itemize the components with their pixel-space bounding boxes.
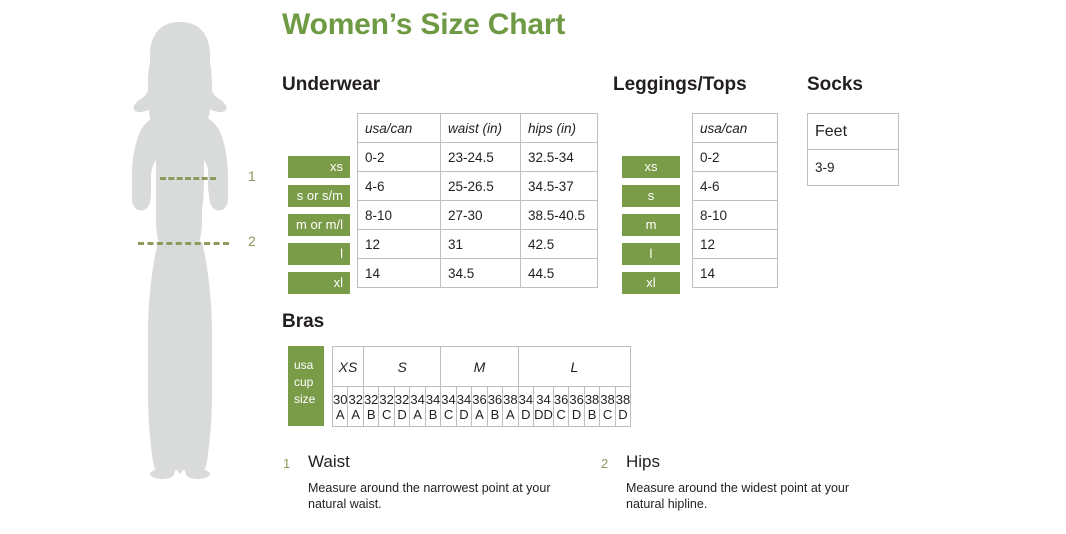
footnote-body: Measure around the narrowest point at yo…	[308, 480, 563, 512]
table-row: 4-6 25-26.5 34.5-37	[358, 172, 598, 201]
bras-band: 32	[364, 392, 378, 407]
bras-group-header-row: XS S M L	[333, 347, 631, 387]
bras-cup: C	[600, 407, 614, 422]
section-heading-underwear: Underwear	[282, 74, 380, 96]
bras-cell: 32C	[379, 387, 394, 427]
bras-band: 34	[534, 392, 553, 407]
bras-group-m: M	[441, 347, 518, 387]
table-row: 3-9	[808, 150, 899, 186]
bras-cup: D	[395, 407, 409, 422]
bras-band: 34	[410, 392, 424, 407]
cell-usa-can: 12	[358, 230, 441, 259]
cell-hips: 34.5-37	[521, 172, 598, 201]
waist-measure-line	[160, 177, 216, 180]
cell-hips: 42.5	[521, 230, 598, 259]
column-header-usa-can: usa/can	[693, 114, 778, 143]
size-label-xs: xs	[622, 156, 680, 178]
size-label-s: s	[622, 185, 680, 207]
bras-cell: 34B	[425, 387, 440, 427]
table-row: 12 31 42.5	[358, 230, 598, 259]
column-header-usa-can: usa/can	[358, 114, 441, 143]
page-title: Women’s Size Chart	[282, 8, 565, 42]
section-heading-leggings-tops: Leggings/Tops	[613, 74, 747, 96]
size-label-l: l	[622, 243, 680, 265]
bras-cup: A	[410, 407, 424, 422]
bras-cell: 36B	[487, 387, 502, 427]
bras-cup: A	[333, 407, 347, 422]
bras-band: 34	[519, 392, 533, 407]
hips-measure-line	[138, 242, 229, 245]
section-heading-socks: Socks	[807, 74, 863, 96]
bras-band: 32	[395, 392, 409, 407]
bras-cell: 34D	[456, 387, 471, 427]
table-row: 14	[693, 259, 778, 288]
table-row: 0-2 23-24.5 32.5-34	[358, 143, 598, 172]
cell-feet: 3-9	[808, 150, 899, 186]
bras-band: 34	[426, 392, 440, 407]
cell-usa-can: 4-6	[693, 172, 778, 201]
underwear-size-table: usa/can waist (in) hips (in) 0-2 23-24.5…	[357, 113, 598, 288]
bras-cup: A	[503, 407, 517, 422]
bras-band: 34	[441, 392, 455, 407]
bras-cup: DD	[534, 407, 553, 422]
cell-usa-can: 0-2	[693, 143, 778, 172]
bras-cell: 38B	[584, 387, 599, 427]
bras-cell: 32B	[363, 387, 378, 427]
footnote-body: Measure around the widest point at your …	[626, 480, 881, 512]
cell-usa-can: 14	[693, 259, 778, 288]
socks-size-table: Feet 3-9	[807, 113, 899, 186]
bras-group-xs: XS	[333, 347, 364, 387]
table-header-row: usa/can waist (in) hips (in)	[358, 114, 598, 143]
size-label-m: m or m/l	[288, 214, 350, 236]
size-label-l: l	[288, 243, 350, 265]
cell-waist: 23-24.5	[441, 143, 521, 172]
bras-cell: 38C	[600, 387, 615, 427]
bras-cup: B	[488, 407, 502, 422]
bras-cup: B	[364, 407, 378, 422]
bras-cell: 38A	[503, 387, 518, 427]
footnote-number: 1	[283, 456, 290, 471]
bras-band: 38	[600, 392, 614, 407]
bras-cup: A	[348, 407, 362, 422]
bras-row-label: usa cup size	[288, 346, 324, 426]
leggings-size-table: usa/can 0-2 4-6 8-10 12 14	[692, 113, 778, 288]
bras-cup: A	[472, 407, 486, 422]
footnote-title: Waist	[308, 452, 350, 472]
bras-size-table: XS S M L 30A 32A 32B 32C 32D 34A 34B 34C…	[332, 346, 631, 427]
table-header-row: Feet	[808, 114, 899, 150]
leggings-size-label-column: xs s m l xl	[622, 156, 680, 301]
footnote-number: 2	[601, 456, 608, 471]
bras-row-label-line-2: cup	[294, 375, 313, 389]
cell-waist: 25-26.5	[441, 172, 521, 201]
bras-cell: 30A	[333, 387, 348, 427]
table-row: 8-10	[693, 201, 778, 230]
column-header-hips: hips (in)	[521, 114, 598, 143]
bras-cup: D	[519, 407, 533, 422]
bras-cup: D	[616, 407, 630, 422]
bras-cup: C	[441, 407, 455, 422]
table-row: 14 34.5 44.5	[358, 259, 598, 288]
bras-group-l: L	[518, 347, 631, 387]
bras-band: 38	[503, 392, 517, 407]
bras-band: 32	[348, 392, 362, 407]
table-row: 4-6	[693, 172, 778, 201]
size-label-m: m	[622, 214, 680, 236]
bras-cup: D	[569, 407, 583, 422]
bras-band: 36	[488, 392, 502, 407]
column-header-feet: Feet	[808, 114, 899, 150]
bras-cell: 34DD	[534, 387, 554, 427]
bras-cell: 32D	[394, 387, 409, 427]
table-row: 8-10 27-30 38.5-40.5	[358, 201, 598, 230]
cell-usa-can: 8-10	[693, 201, 778, 230]
size-label-xl: xl	[622, 272, 680, 294]
table-header-row: usa/can	[693, 114, 778, 143]
cell-usa-can: 4-6	[358, 172, 441, 201]
bras-cell: 36C	[553, 387, 568, 427]
bras-group-s: S	[363, 347, 440, 387]
bras-band: 36	[472, 392, 486, 407]
body-silhouette-figure: 1 2	[100, 22, 260, 482]
bras-row-label-line-1: usa	[294, 358, 313, 372]
cell-usa-can: 0-2	[358, 143, 441, 172]
table-row: 0-2	[693, 143, 778, 172]
bras-row-label-line-3: size	[294, 392, 315, 406]
bras-cup: B	[585, 407, 599, 422]
waist-marker-number: 1	[248, 168, 256, 184]
cell-usa-can: 12	[693, 230, 778, 259]
bras-cup: D	[457, 407, 471, 422]
cell-hips: 32.5-34	[521, 143, 598, 172]
bras-cell: 38D	[615, 387, 630, 427]
table-row: 12	[693, 230, 778, 259]
cell-hips: 44.5	[521, 259, 598, 288]
cell-hips: 38.5-40.5	[521, 201, 598, 230]
cell-usa-can: 14	[358, 259, 441, 288]
section-heading-bras: Bras	[282, 311, 324, 333]
bras-cup: B	[426, 407, 440, 422]
bras-band: 34	[457, 392, 471, 407]
bras-cell: 34D	[518, 387, 533, 427]
cell-waist: 27-30	[441, 201, 521, 230]
bras-band: 36	[554, 392, 568, 407]
bras-cell: 36A	[472, 387, 487, 427]
bras-cup: C	[554, 407, 568, 422]
size-label-xl: xl	[288, 272, 350, 294]
cell-waist: 31	[441, 230, 521, 259]
bras-cell: 34C	[441, 387, 456, 427]
footnote-title: Hips	[626, 452, 660, 472]
bras-band: 38	[616, 392, 630, 407]
bras-band: 30	[333, 392, 347, 407]
cell-usa-can: 8-10	[358, 201, 441, 230]
cell-waist: 34.5	[441, 259, 521, 288]
female-silhouette-icon	[100, 22, 260, 482]
bras-band: 32	[379, 392, 393, 407]
bras-band: 38	[585, 392, 599, 407]
underwear-size-label-column: xs s or s/m m or m/l l xl	[288, 156, 350, 301]
bras-cell: 34A	[410, 387, 425, 427]
hips-marker-number: 2	[248, 233, 256, 249]
size-label-s: s or s/m	[288, 185, 350, 207]
bras-cup: C	[379, 407, 393, 422]
bras-cell: 32A	[348, 387, 363, 427]
column-header-waist: waist (in)	[441, 114, 521, 143]
bras-band: 36	[569, 392, 583, 407]
bras-cup-size-row: 30A 32A 32B 32C 32D 34A 34B 34C 34D 36A …	[333, 387, 631, 427]
bras-cell: 36D	[569, 387, 584, 427]
size-label-xs: xs	[288, 156, 350, 178]
